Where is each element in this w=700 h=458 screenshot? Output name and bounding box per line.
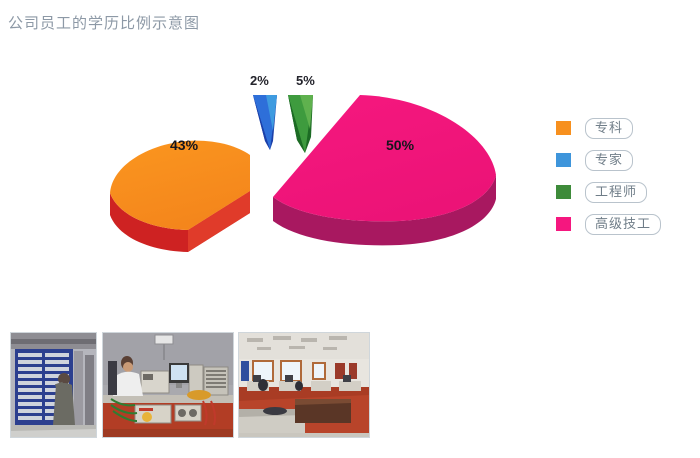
pie-chart: 43% 2% 5% 50% (0, 45, 540, 275)
photo-test-bench (102, 332, 234, 438)
photo-control-panel (10, 332, 97, 438)
legend-item-zhuanke[interactable]: 专科 (556, 112, 696, 144)
slice-label-orange: 43% (170, 137, 198, 153)
legend-swatch-green (556, 185, 571, 199)
legend-swatch-magenta (556, 217, 571, 231)
chart-legend: 专科 专家 工程师 高级技工 (556, 112, 696, 240)
legend-label-gaojijigong: 高级技工 (585, 214, 661, 235)
slice-label-green: 5% (296, 73, 315, 88)
photo-strip (0, 330, 700, 442)
pie-slice-blue (253, 95, 277, 150)
photo-office-lab (238, 332, 370, 438)
slice-label-blue: 2% (250, 73, 269, 88)
legend-item-zhuanjia[interactable]: 专家 (556, 144, 696, 176)
pie-slice-orange (110, 141, 250, 252)
legend-label-gongchengshi: 工程师 (585, 182, 647, 203)
legend-swatch-blue (556, 153, 571, 167)
pie-chart-graphic (0, 45, 540, 275)
page-title: 公司员工的学历比例示意图 (8, 12, 200, 33)
pie-slice-green (288, 95, 313, 153)
legend-swatch-orange (556, 121, 571, 135)
legend-label-zhuanke: 专科 (585, 118, 633, 139)
legend-label-zhuanjia: 专家 (585, 150, 633, 171)
legend-item-gaojijigong[interactable]: 高级技工 (556, 208, 696, 240)
page-root: 公司员工的学历比例示意图 (0, 0, 700, 458)
slice-label-magenta: 50% (386, 137, 414, 153)
legend-item-gongchengshi[interactable]: 工程师 (556, 176, 696, 208)
